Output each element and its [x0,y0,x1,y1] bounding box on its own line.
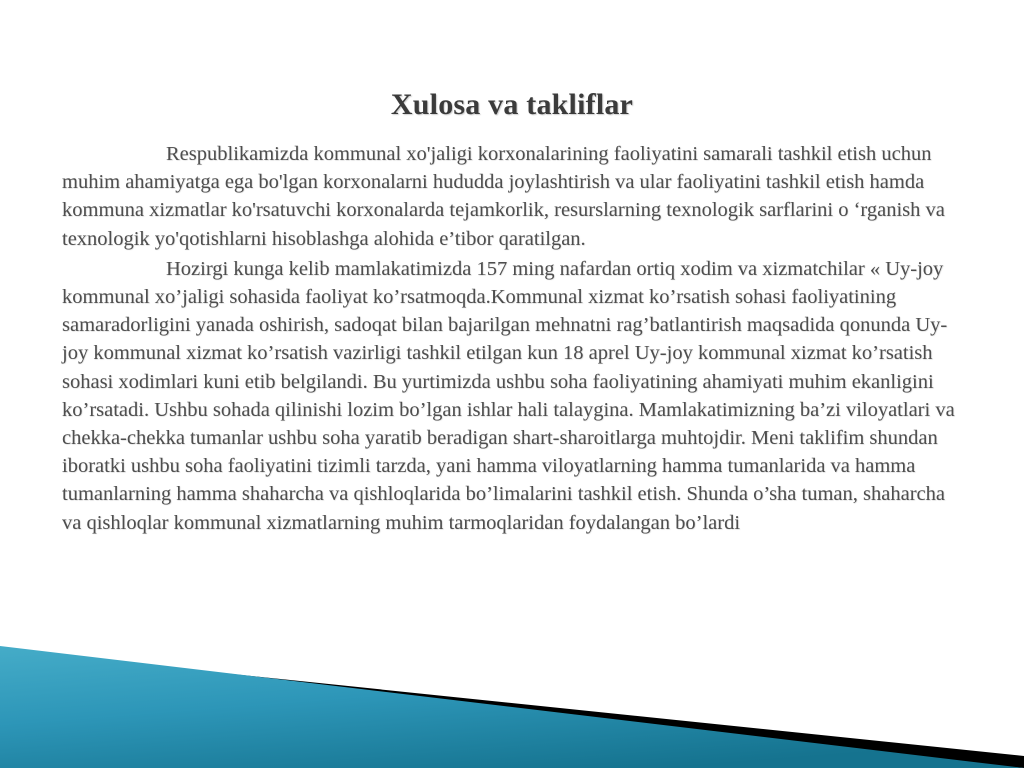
diagonal-banner-decoration [0,628,1024,768]
paragraph-2: Hozirgi kunga kelib mamlakatimizda 157 m… [62,255,964,537]
black-stripe [0,650,1024,768]
pale-blue-stripe [0,662,1024,768]
paragraph-1: Respublikamizda kommunal xo'jaligi korxo… [62,140,964,253]
diagonal-banner-svg [0,628,1024,768]
page-title: Xulosa va takliflar [0,88,1024,121]
presentation-slide: Xulosa va takliflar Respublikamizda komm… [0,0,1024,768]
slide-body-text: Respublikamizda kommunal xo'jaligi korxo… [62,140,964,537]
teal-triangle [0,646,1024,768]
